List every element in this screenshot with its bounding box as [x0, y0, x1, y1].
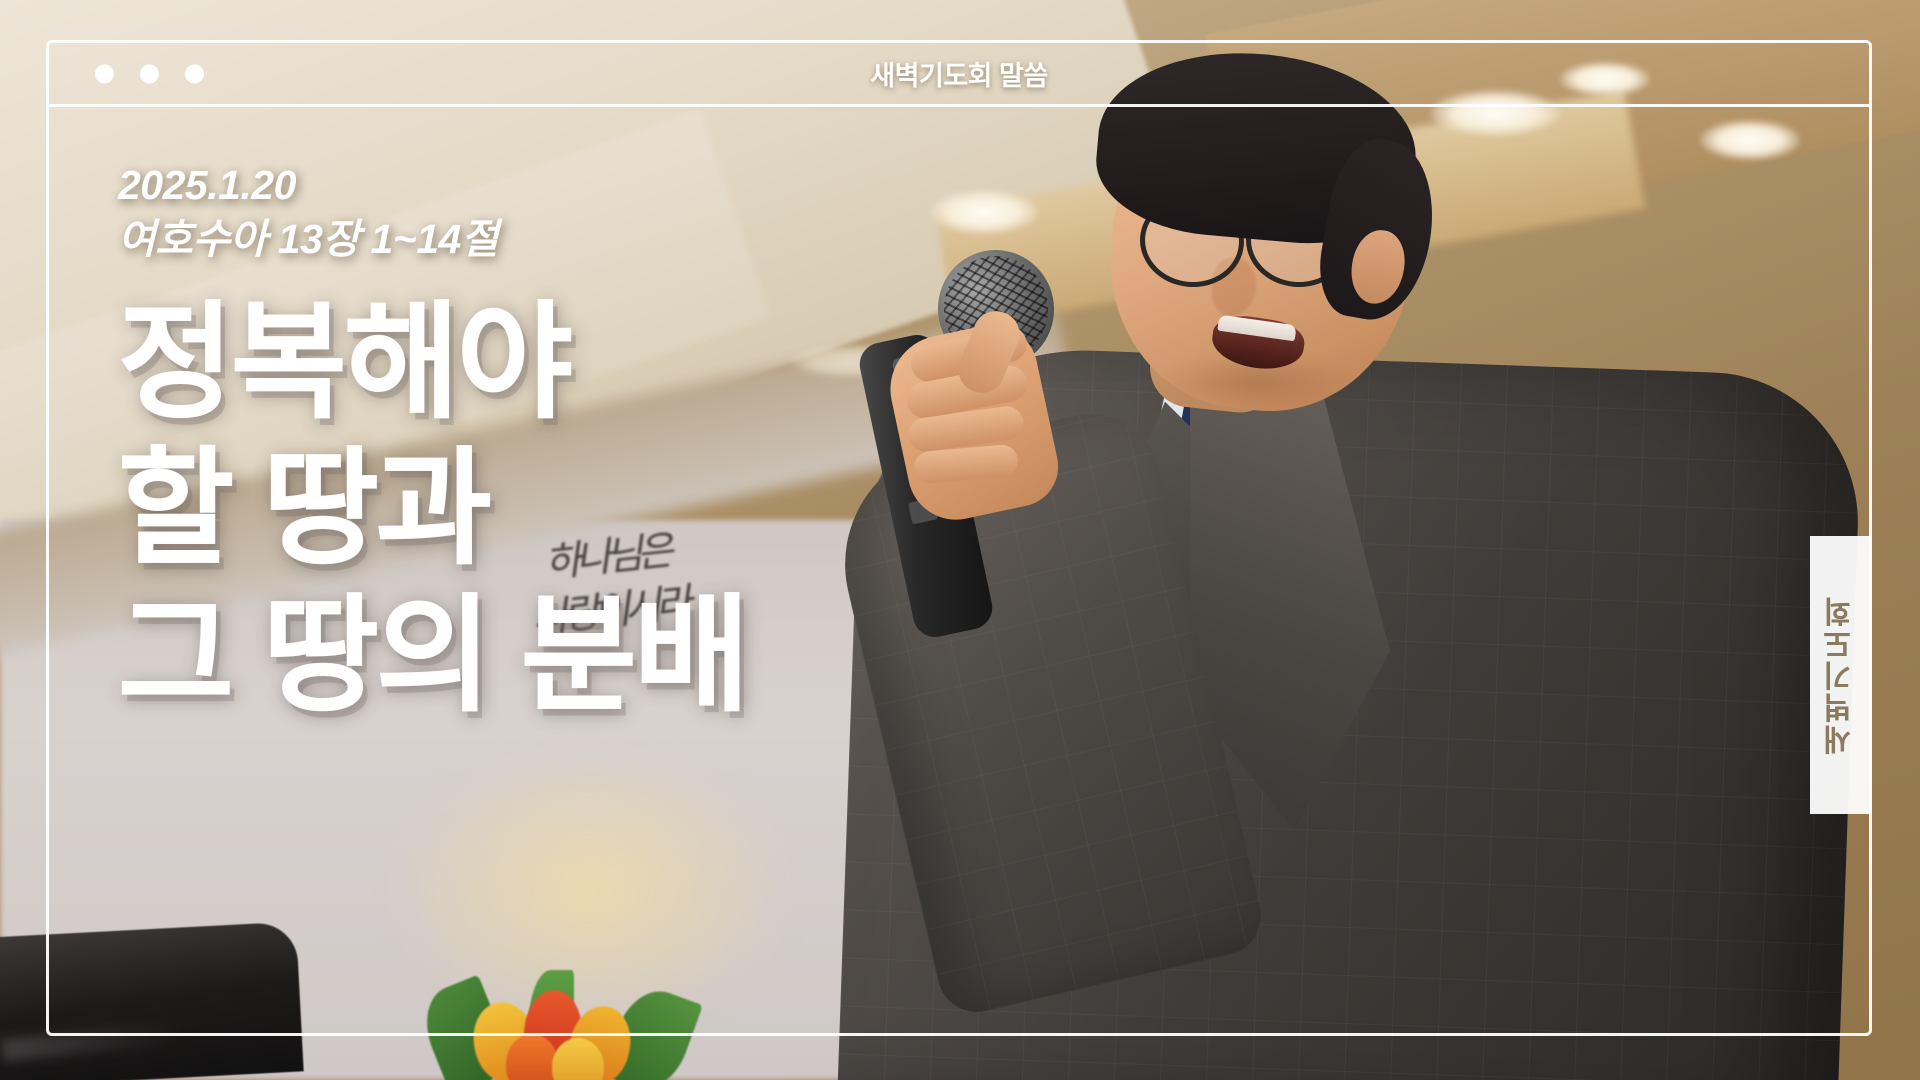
grand-piano [0, 921, 304, 1080]
sermon-date: 2025.1.20 [118, 158, 1118, 212]
side-badge-label: 새벽기도회 [1819, 595, 1863, 755]
headline-line-1: 정복해야 [118, 290, 1118, 436]
scripture-reference: 여호수아 13장 1~14절 [118, 212, 1118, 266]
headline-line-3: 그 땅의 분배 [118, 583, 1118, 729]
headline-line-2: 할 땅과 [118, 436, 1118, 582]
title-overlay: 2025.1.20 여호수아 13장 1~14절 정복해야 할 땅과 그 땅의 … [118, 158, 1118, 729]
sermon-headline: 정복해야 할 땅과 그 땅의 분배 [118, 290, 1118, 728]
side-badge: 새벽기도회 [1810, 536, 1872, 814]
flower-arrangement [420, 950, 720, 1080]
piano-sheen [1, 1021, 182, 1062]
